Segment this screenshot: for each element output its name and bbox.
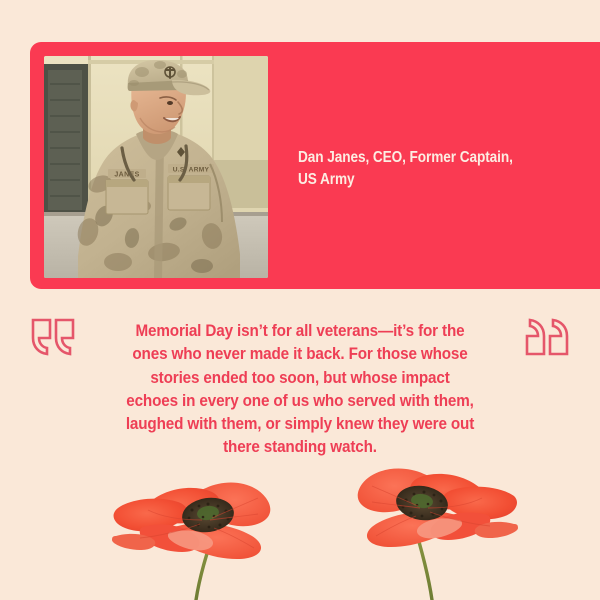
profile-card: JANES U.S. ARMY <box>30 42 600 289</box>
profile-photo: JANES U.S. ARMY <box>44 56 268 278</box>
quote-line: echoes in every one of us who served wit… <box>99 390 501 413</box>
svg-text:U.S. ARMY: U.S. ARMY <box>173 166 210 173</box>
poppy-flower-left <box>112 483 270 600</box>
poppy-flower-right <box>358 469 518 600</box>
quote-line: stories ended too soon, but whose impact <box>99 367 501 390</box>
profile-caption-line-2: US Army <box>298 169 544 191</box>
svg-text:JANES: JANES <box>114 171 139 178</box>
quote-line: Memorial Day isn’t for all veterans—it’s… <box>99 320 501 343</box>
memorial-day-graphic: JANES U.S. ARMY <box>0 0 600 600</box>
quote-section: Memorial Day isn’t for all veterans—it’s… <box>0 306 600 456</box>
quote-line: ones who never made it back. For those w… <box>99 343 501 366</box>
quote-line: laughed with them, or simply knew they w… <box>99 413 501 436</box>
quote-text: Memorial Day isn’t for all veterans—it’s… <box>99 320 501 460</box>
soldier-portrait-image: JANES U.S. ARMY <box>44 56 268 278</box>
poppies-illustration <box>0 440 600 600</box>
open-quote-mark-icon <box>30 318 76 356</box>
profile-caption-line-1: Dan Janes, CEO, Former Captain, <box>298 147 544 169</box>
profile-caption: Dan Janes, CEO, Former Captain, US Army <box>298 147 544 191</box>
close-quote-mark-icon <box>524 318 570 356</box>
poppy-decoration <box>0 440 600 600</box>
